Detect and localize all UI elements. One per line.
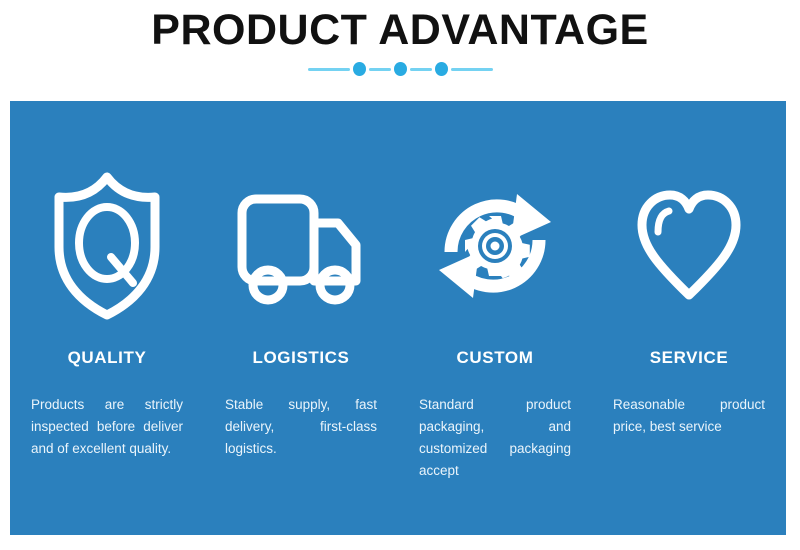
advantage-card-title: SERVICE bbox=[650, 348, 729, 368]
shield-q-icon bbox=[45, 146, 169, 346]
divider-dot-3 bbox=[435, 62, 448, 76]
page-title: PRODUCT ADVANTAGE bbox=[0, 6, 800, 54]
divider-line-mid-2 bbox=[410, 68, 432, 71]
advantage-card-body: Stable supply, fast delivery, first-clas… bbox=[225, 394, 377, 460]
page-header: PRODUCT ADVANTAGE bbox=[0, 0, 800, 100]
decorative-divider bbox=[0, 62, 800, 76]
advantage-card-body: Standard product packaging, and customiz… bbox=[419, 394, 571, 482]
advantage-card-title: LOGISTICS bbox=[252, 348, 349, 368]
advantage-card-title: CUSTOM bbox=[457, 348, 534, 368]
divider-line-right bbox=[451, 68, 493, 71]
delivery-truck-icon bbox=[235, 146, 367, 346]
advantage-card-custom: CUSTOM Standard product packaging, and c… bbox=[398, 101, 592, 535]
advantage-card-body: Reasonable product price, best service bbox=[613, 394, 765, 438]
divider-line-left bbox=[308, 68, 350, 71]
advantages-panel: QUALITY Products are strictly inspected … bbox=[10, 101, 786, 535]
advantage-card-body: Products are strictly inspected before d… bbox=[31, 394, 183, 460]
advantage-card-service: SERVICE Reasonable product price, best s… bbox=[592, 101, 786, 535]
advantage-card-quality: QUALITY Products are strictly inspected … bbox=[10, 101, 204, 535]
divider-dot-1 bbox=[353, 62, 366, 76]
advantage-card-title: QUALITY bbox=[68, 348, 147, 368]
gear-cycle-icon bbox=[431, 146, 559, 346]
advantage-card-logistics: LOGISTICS Stable supply, fast delivery, … bbox=[204, 101, 398, 535]
advantage-cards: QUALITY Products are strictly inspected … bbox=[10, 101, 786, 535]
heart-icon bbox=[634, 146, 744, 346]
divider-line-mid-1 bbox=[369, 68, 391, 71]
divider-dot-2 bbox=[394, 62, 407, 76]
